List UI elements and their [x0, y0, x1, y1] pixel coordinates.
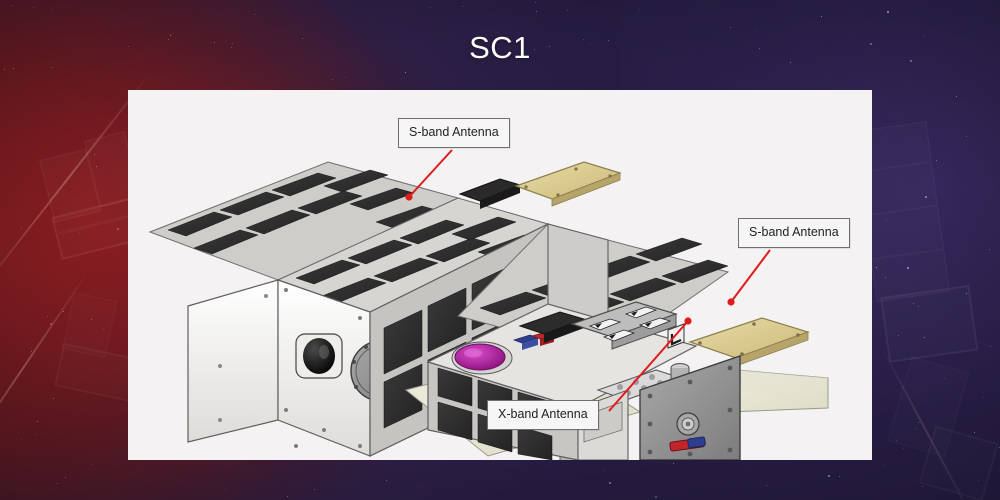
callout-s-band-antenna-right: S-band Antenna — [738, 218, 850, 248]
callout-x-band-antenna: X-band Antenna — [487, 400, 599, 430]
s-band-antenna-right — [690, 318, 808, 366]
figure-panel: S-band Antenna S-band Antenna X-band Ant… — [128, 90, 872, 460]
left-front-face — [188, 280, 278, 442]
slide-canvas: SC1 — [0, 0, 1000, 500]
optical-aperture — [452, 342, 512, 374]
s-band-antenna-left — [516, 162, 620, 206]
page-title: SC1 — [0, 30, 1000, 66]
callout-s-band-antenna-left: S-band Antenna — [398, 118, 510, 148]
